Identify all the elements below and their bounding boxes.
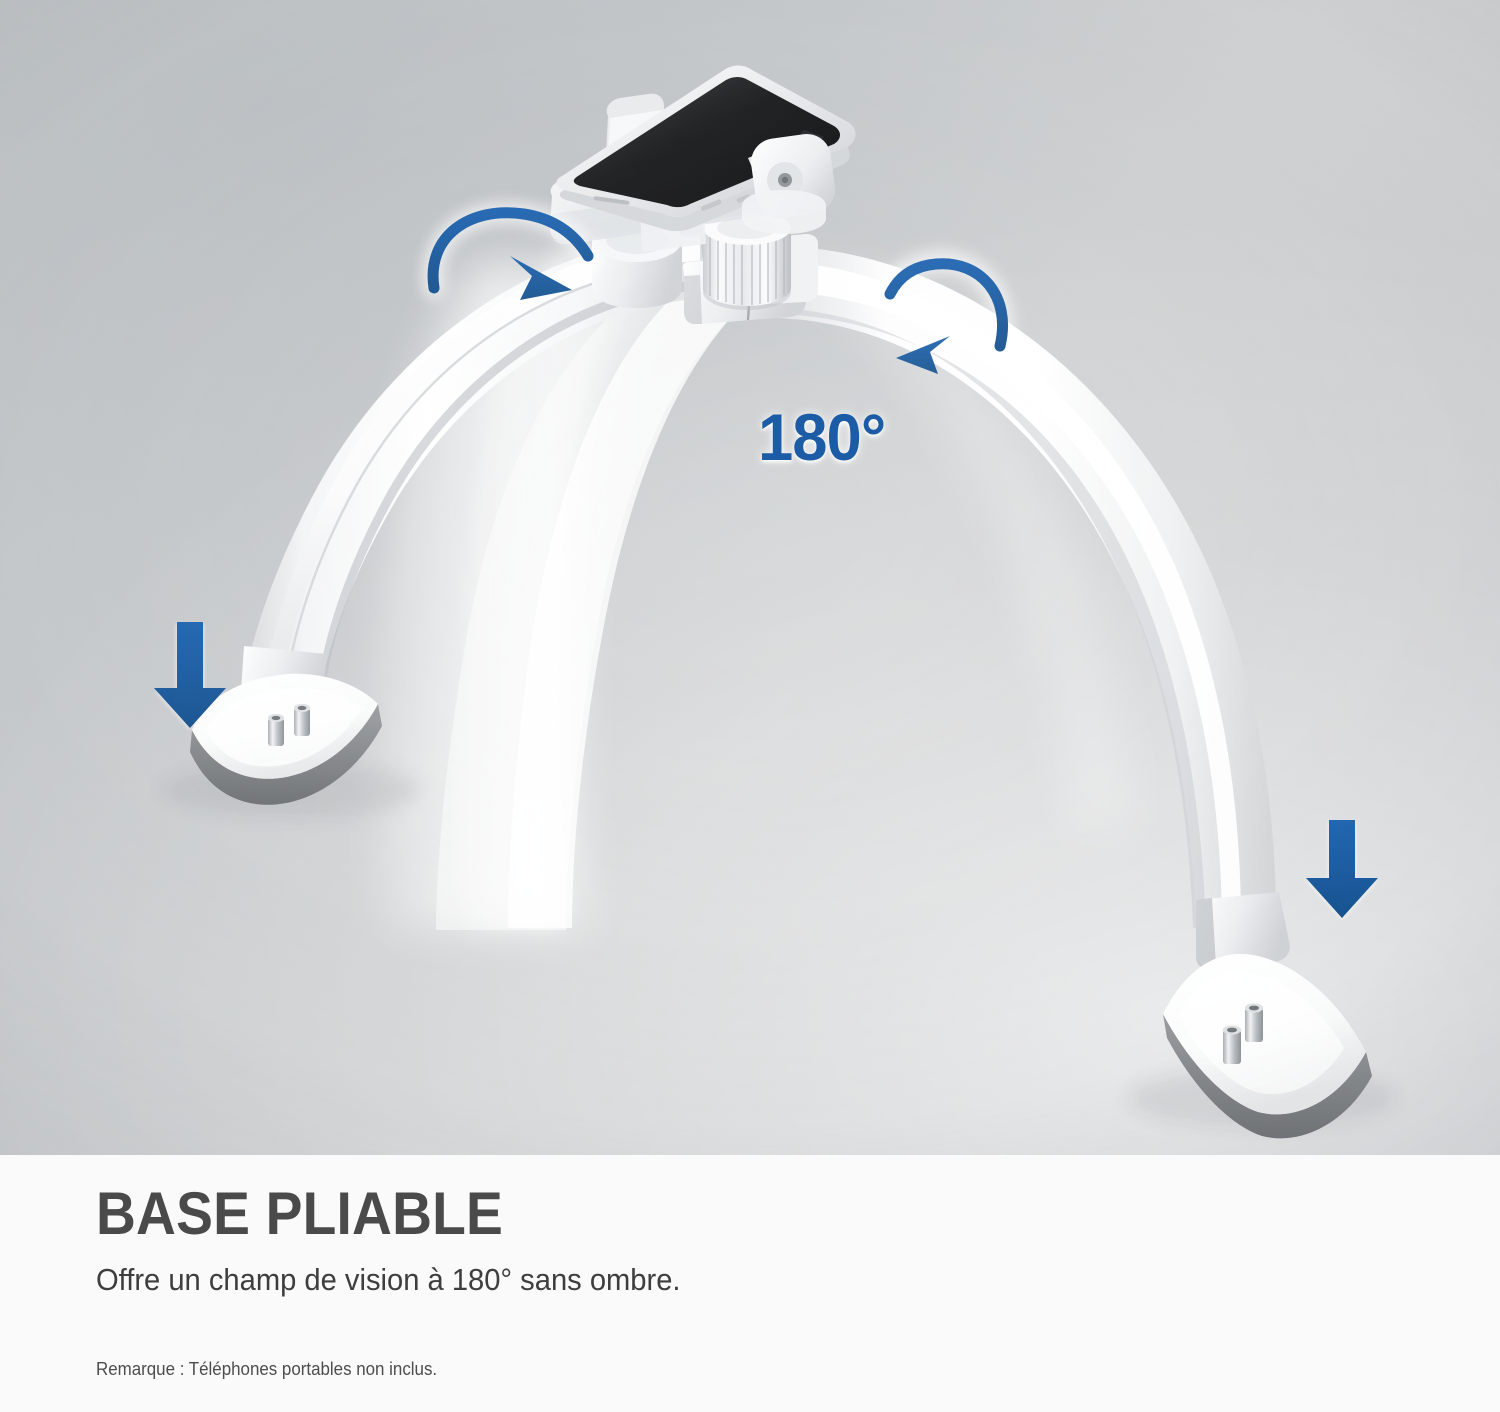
center-hinge-block-shadow [684,275,702,324]
page-subtitle: Offre un champ de vision à 180° sans omb… [96,1262,681,1298]
product-feature-card: 180° BASE PLIABLE Offre un champ de visi… [0,0,1500,1412]
angle-label: 180° [758,404,885,470]
right-arc-arm-inner-highlight [784,262,1241,918]
swivel-collar [742,190,826,234]
right-down-arrow-shape [1306,820,1378,918]
product-illustration [0,0,1500,1155]
disclaimer-note: Remarque : Téléphones portables non incl… [96,1358,437,1380]
product-photo: 180° [0,0,1500,1155]
caption-panel: BASE PLIABLE Offre un champ de vision à … [0,1155,1500,1412]
right-fold-down-arrow [1306,820,1378,920]
page-title: BASE PLIABLE [96,1183,503,1245]
